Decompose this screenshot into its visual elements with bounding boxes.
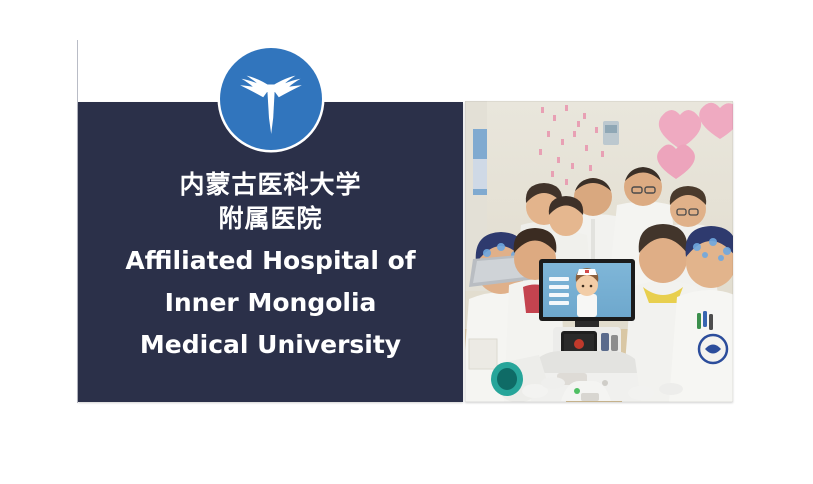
hospital-logo xyxy=(220,48,322,150)
title-english-line-1: Affiliated Hospital of xyxy=(78,244,463,278)
title-english-line-3: Medical University xyxy=(78,328,463,362)
photo-illustration xyxy=(465,101,733,402)
logo-bird-icon xyxy=(220,48,322,150)
title-english-line-2: Inner Mongolia xyxy=(78,286,463,320)
slide-canvas: 内蒙古医科大学 附属医院 Affiliated Hospital of Inne… xyxy=(0,0,813,484)
brand-text-block: 内蒙古医科大学 附属医院 Affiliated Hospital of Inne… xyxy=(78,168,463,362)
hospital-robot-demo-photo xyxy=(465,101,733,402)
title-chinese-line-1: 内蒙古医科大学 xyxy=(78,168,463,202)
title-chinese-line-2: 附属医院 xyxy=(78,202,463,236)
